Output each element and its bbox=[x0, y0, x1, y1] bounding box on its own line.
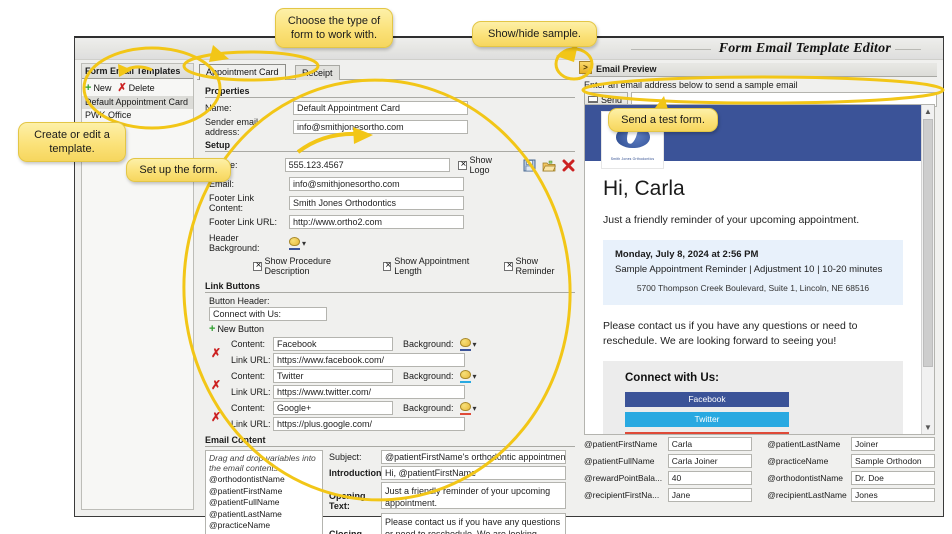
twitter-color-palette-icon[interactable] bbox=[460, 370, 472, 382]
logo-caption: Smith Jones Orthodontics bbox=[602, 157, 663, 161]
checkbox-icon bbox=[504, 262, 513, 271]
table-row: @patientFullName Carla Joiner @practiceN… bbox=[584, 454, 935, 468]
callout-setup-the-form: Set up the form. bbox=[126, 158, 231, 182]
variable-item[interactable]: @patientFirstName bbox=[209, 486, 319, 498]
googleplus-url-input[interactable]: https://plus.google.com/ bbox=[273, 417, 465, 431]
button-header-input[interactable]: Connect with Us: bbox=[209, 307, 327, 321]
googleplus-content-row: Content: Google+ Background: ▾ bbox=[205, 401, 575, 415]
save-icon[interactable] bbox=[523, 159, 536, 172]
variable-item[interactable]: @practiceName bbox=[209, 520, 319, 532]
callout-show-hide-sample: Show/hide sample. bbox=[472, 21, 597, 47]
form-body: Properties Name: Default Appointment Car… bbox=[197, 80, 580, 510]
practice-address: 5700 Thompson Creek Boulevard, Suite 1, … bbox=[615, 283, 891, 293]
link-url-label: Link URL: bbox=[231, 419, 273, 429]
show-logo-checkbox[interactable]: Show Logo bbox=[458, 155, 512, 175]
tab-appointment-card[interactable]: Appointment Card bbox=[199, 64, 286, 80]
preview-scrollbar[interactable]: ▲ ▼ bbox=[921, 105, 934, 434]
variable-label: @patientLastName bbox=[767, 439, 851, 449]
email-sample-body: Smith Jones Orthodontics Hi, Carla Just … bbox=[585, 105, 921, 434]
palette-underline bbox=[460, 349, 471, 351]
variable-label: @patientFullName bbox=[584, 456, 668, 466]
facebook-url-row: Link URL: https://www.facebook.com/ bbox=[205, 353, 575, 367]
content-label: Content: bbox=[231, 403, 273, 413]
sample-variables-table: @patientFirstName Carla @patientLastName… bbox=[584, 437, 935, 501]
phone-input[interactable]: 555.123.4567 bbox=[285, 158, 451, 172]
footer-link-url-label: Footer Link URL: bbox=[205, 217, 289, 227]
show-appointment-length-checkbox[interactable]: Show Appointment Length bbox=[383, 256, 492, 276]
email-content-section-header: Email Content bbox=[205, 435, 575, 447]
variable-label: @practiceName bbox=[767, 456, 851, 466]
facebook-url-input[interactable]: https://www.facebook.com/ bbox=[273, 353, 465, 367]
delete-template-label: Delete bbox=[129, 83, 155, 93]
connect-with-us-header: Connect with Us: bbox=[625, 372, 903, 384]
email-content-area: Hi, Carla Just a friendly reminder of yo… bbox=[585, 161, 921, 435]
footer-link-url-input[interactable]: http://www.ortho2.com bbox=[289, 215, 464, 229]
background-label: Background: bbox=[403, 339, 454, 349]
email-input[interactable]: info@smithjonesortho.com bbox=[289, 177, 464, 191]
table-row: @patientFirstName Carla @patientLastName… bbox=[584, 437, 935, 451]
template-list-item-default-appointment-card[interactable]: Default Appointment Card bbox=[82, 96, 193, 109]
email-googleplus-button[interactable]: Google+ bbox=[625, 432, 789, 435]
opening-text-row: Opening Text: Just a friendly reminder o… bbox=[329, 482, 575, 511]
footer-link-content-label: Footer Link Content: bbox=[205, 193, 289, 213]
show-reminder-checkbox[interactable]: Show Reminder bbox=[504, 256, 575, 276]
send-button-label: Send bbox=[601, 95, 622, 105]
link-button-group-facebook: ✗ Content: Facebook Background: ▾ bbox=[205, 337, 575, 367]
delete-template-button[interactable]: ✗ Delete bbox=[117, 83, 154, 93]
scrollbar-thumb[interactable] bbox=[923, 119, 933, 367]
subject-input[interactable]: @patientFirstName's orthodontic appointm… bbox=[381, 450, 566, 464]
name-input[interactable]: Default Appointment Card bbox=[293, 101, 468, 115]
callout-choose-form-type: Choose the type of form to work with. bbox=[275, 8, 393, 48]
preview-instruction: Enter an email address below to send a s… bbox=[582, 77, 937, 92]
variable-item[interactable]: @patientFullName bbox=[209, 497, 319, 509]
new-button-label: New Button bbox=[217, 324, 264, 334]
templates-pane-header: Form Email Templates bbox=[82, 64, 193, 79]
open-folder-icon[interactable] bbox=[542, 159, 556, 172]
appointment-detail: Sample Appointment Reminder | Adjustment… bbox=[615, 264, 891, 275]
scroll-down-icon[interactable]: ▼ bbox=[922, 421, 934, 434]
title-rule-left bbox=[631, 49, 711, 50]
sender-email-label: Sender email address: bbox=[205, 117, 293, 137]
email-content-body: Drag and drop variables into the email c… bbox=[205, 450, 575, 534]
envelope-icon bbox=[588, 96, 598, 103]
palette-underline bbox=[289, 248, 300, 250]
variable-item[interactable]: @patientLastName bbox=[209, 509, 319, 521]
variable-value-input[interactable]: Jones bbox=[851, 488, 935, 502]
connect-with-us-box: Connect with Us: Facebook Twitter Google… bbox=[603, 361, 903, 435]
delete-link-button-icon[interactable]: ✗ bbox=[209, 346, 223, 360]
palette-dropdown-icon[interactable]: ▾ bbox=[473, 404, 477, 413]
twitter-content-row: Content: Twitter Background: ▾ bbox=[205, 369, 575, 383]
delete-link-button-icon[interactable]: ✗ bbox=[209, 378, 223, 392]
introduction-row: Introduction: Hi, @patientFirstName bbox=[329, 466, 575, 480]
variable-label: @recipientLastName bbox=[767, 490, 851, 500]
link-url-label: Link URL: bbox=[231, 355, 273, 365]
palette-underline bbox=[460, 381, 471, 383]
link-button-group-twitter: ✗ Content: Twitter Background: ▾ bbox=[205, 369, 575, 399]
closing-text-row: Closing Text: Please contact us if you h… bbox=[329, 513, 575, 534]
checkbox-icon bbox=[253, 262, 262, 271]
subject-row: Subject: @patientFirstName's orthodontic… bbox=[329, 450, 575, 464]
palette-body bbox=[289, 237, 300, 246]
email-greeting: Hi, Carla bbox=[603, 177, 903, 201]
footer-link-url-row: Footer Link URL: http://www.ortho2.com bbox=[205, 215, 575, 229]
variable-value-input[interactable]: Dr. Doe bbox=[851, 471, 935, 485]
palette-underline bbox=[460, 413, 471, 415]
callout-text: Show/hide sample. bbox=[488, 28, 581, 40]
color-palette-icon[interactable] bbox=[289, 237, 301, 249]
setup-checkbox-row: Show Procedure Description Show Appointm… bbox=[205, 256, 575, 276]
variable-value-input[interactable]: Carla bbox=[668, 437, 752, 451]
content-label: Content: bbox=[231, 371, 273, 381]
sender-email-input[interactable]: info@smithjonesortho.com bbox=[293, 120, 468, 134]
variable-label: @orthodontistName bbox=[767, 473, 851, 483]
variable-value-input[interactable]: Sample Orthodon bbox=[851, 454, 935, 468]
twitter-url-row: Link URL: https://www.twitter.com/ bbox=[205, 385, 575, 399]
appointment-datetime: Monday, July 8, 2024 at 2:56 PM bbox=[615, 249, 891, 260]
sender-email-row: Sender email address: info@smithjonesort… bbox=[205, 117, 575, 137]
template-list-item-pwk-office[interactable]: PWK Office bbox=[82, 109, 193, 122]
palette-dropdown-icon[interactable]: ▾ bbox=[302, 239, 306, 248]
header-background-row: Header Background: ▾ bbox=[205, 233, 575, 253]
palette-body bbox=[460, 402, 471, 411]
closing-text-label: Closing Text: bbox=[329, 513, 381, 534]
googleplus-color-palette-icon[interactable] bbox=[460, 402, 472, 414]
new-button-button[interactable]: + New Button bbox=[205, 324, 575, 334]
email-preview-frame: Smith Jones Orthodontics Hi, Carla Just … bbox=[584, 104, 935, 435]
page-title: Form Email Template Editor bbox=[719, 41, 891, 57]
templates-toolbar: + New ✗ Delete bbox=[82, 79, 193, 95]
checkbox-icon bbox=[383, 262, 392, 271]
plus-icon: + bbox=[85, 84, 91, 93]
properties-section-header: Properties bbox=[205, 86, 575, 98]
new-template-label: New bbox=[93, 83, 111, 93]
link-buttons-section-header: Link Buttons bbox=[205, 281, 575, 293]
callout-send-test-form: Send a test form. bbox=[608, 108, 718, 132]
callout-text: Send a test form. bbox=[621, 114, 705, 126]
background-label: Background: bbox=[403, 403, 454, 413]
variable-value-input[interactable]: Carla Joiner bbox=[668, 454, 752, 468]
callout-text: Choose the type of form to work with. bbox=[288, 15, 380, 41]
show-logo-label: Show Logo bbox=[470, 155, 512, 175]
form-editor-pane: Appointment Card Receipt Properties Name… bbox=[197, 63, 580, 510]
table-row: @rewardPointBala... 40 @orthodontistName… bbox=[584, 471, 935, 485]
footer-link-content-input[interactable]: Smith Jones Orthodontics bbox=[289, 196, 464, 210]
variable-value-input[interactable]: Joiner bbox=[851, 437, 935, 451]
header-background-label: Header Background: bbox=[205, 233, 289, 253]
opening-text-label: Opening Text: bbox=[329, 482, 381, 511]
email-twitter-button[interactable]: Twitter bbox=[625, 412, 789, 427]
introduction-input[interactable]: Hi, @patientFirstName bbox=[381, 466, 566, 480]
email-row: Email: info@smithjonesortho.com bbox=[205, 177, 575, 191]
callout-text: Create or edit a template. bbox=[34, 129, 110, 155]
preview-title: Email Preview bbox=[596, 64, 657, 74]
callout-text: Set up the form. bbox=[139, 164, 217, 176]
preview-header: > Email Preview bbox=[582, 63, 937, 77]
background-label: Background: bbox=[403, 371, 454, 381]
checkbox-icon bbox=[458, 161, 467, 170]
introduction-label: Introduction: bbox=[329, 468, 381, 478]
plus-icon: + bbox=[209, 325, 215, 334]
email-facebook-button[interactable]: Facebook bbox=[625, 392, 789, 407]
form-tabstrip: Appointment Card Receipt bbox=[197, 63, 580, 80]
closing-text-input[interactable]: Please contact us if you have any questi… bbox=[381, 513, 566, 534]
new-template-button[interactable]: + New bbox=[85, 83, 111, 93]
show-procedure-description-checkbox[interactable]: Show Procedure Description bbox=[253, 256, 371, 276]
palette-body bbox=[460, 370, 471, 379]
variable-value-input[interactable]: Jane bbox=[668, 488, 752, 502]
show-appointment-length-label: Show Appointment Length bbox=[394, 256, 492, 276]
email-closing-text: Please contact us if you have any questi… bbox=[603, 319, 903, 349]
appointment-details-box: Monday, July 8, 2024 at 2:56 PM Sample A… bbox=[603, 240, 903, 305]
title-rule-right bbox=[895, 49, 921, 50]
show-hide-sample-button[interactable]: > bbox=[579, 61, 592, 74]
footer-link-content-row: Footer Link Content: Smith Jones Orthodo… bbox=[205, 193, 575, 213]
scroll-up-icon[interactable]: ▲ bbox=[922, 105, 934, 118]
googleplus-url-row: Link URL: https://plus.google.com/ bbox=[205, 417, 575, 431]
variables-list[interactable]: Drag and drop variables into the email c… bbox=[205, 450, 323, 534]
googleplus-content-input[interactable]: Google+ bbox=[273, 401, 393, 415]
palette-dropdown-icon[interactable]: ▾ bbox=[473, 372, 477, 381]
name-row: Name: Default Appointment Card bbox=[205, 101, 575, 115]
link-url-label: Link URL: bbox=[231, 387, 273, 397]
callout-create-edit-template: Create or edit a template. bbox=[18, 122, 126, 162]
variable-label: @recipientFirstNa... bbox=[584, 490, 668, 500]
email-opening-text: Just a friendly reminder of your upcomin… bbox=[603, 213, 903, 228]
application-window: Form Email Template Editor Form Email Te… bbox=[74, 36, 944, 517]
name-label: Name: bbox=[205, 103, 293, 113]
twitter-content-input[interactable]: Twitter bbox=[273, 369, 393, 383]
phone-row: Phone: 555.123.4567 Show Logo bbox=[205, 155, 575, 175]
facebook-content-input[interactable]: Facebook bbox=[273, 337, 393, 351]
table-row: @recipientFirstNa... Jane @recipientLast… bbox=[584, 488, 935, 502]
screenshot-root: Form Email Template Editor Form Email Te… bbox=[0, 0, 952, 534]
template-list: Default Appointment Card PWK Office bbox=[82, 95, 193, 122]
email-fields: Subject: @patientFirstName's orthodontic… bbox=[329, 450, 575, 534]
variable-label: @rewardPointBala... bbox=[584, 473, 668, 483]
opening-text-input[interactable]: Just a friendly reminder of your upcomin… bbox=[381, 482, 566, 509]
content-label: Content: bbox=[231, 339, 273, 349]
variable-label: @patientFirstName bbox=[584, 439, 668, 449]
subject-label: Subject: bbox=[329, 452, 381, 462]
variables-hint: Drag and drop variables into the email c… bbox=[209, 453, 319, 473]
facebook-color-palette-icon[interactable] bbox=[460, 338, 472, 350]
twitter-url-input[interactable]: https://www.twitter.com/ bbox=[273, 385, 465, 399]
red-x-icon: ✗ bbox=[117, 84, 126, 93]
button-header-label: Button Header: bbox=[205, 296, 575, 306]
variable-value-input[interactable]: 40 bbox=[668, 471, 752, 485]
variable-item[interactable]: @orthodontistName bbox=[209, 474, 319, 486]
link-button-group-googleplus: ✗ Content: Google+ Background: ▾ bbox=[205, 401, 575, 431]
show-procedure-description-label: Show Procedure Description bbox=[265, 256, 371, 276]
delete-red-x-icon[interactable] bbox=[562, 159, 575, 172]
palette-body bbox=[460, 338, 471, 347]
setup-section-header: Setup bbox=[205, 140, 575, 152]
show-reminder-label: Show Reminder bbox=[516, 256, 575, 276]
tab-receipt[interactable]: Receipt bbox=[295, 65, 340, 80]
palette-dropdown-icon[interactable]: ▾ bbox=[473, 340, 477, 349]
facebook-content-row: Content: Facebook Background: ▾ bbox=[205, 337, 575, 351]
delete-link-button-icon[interactable]: ✗ bbox=[209, 410, 223, 424]
